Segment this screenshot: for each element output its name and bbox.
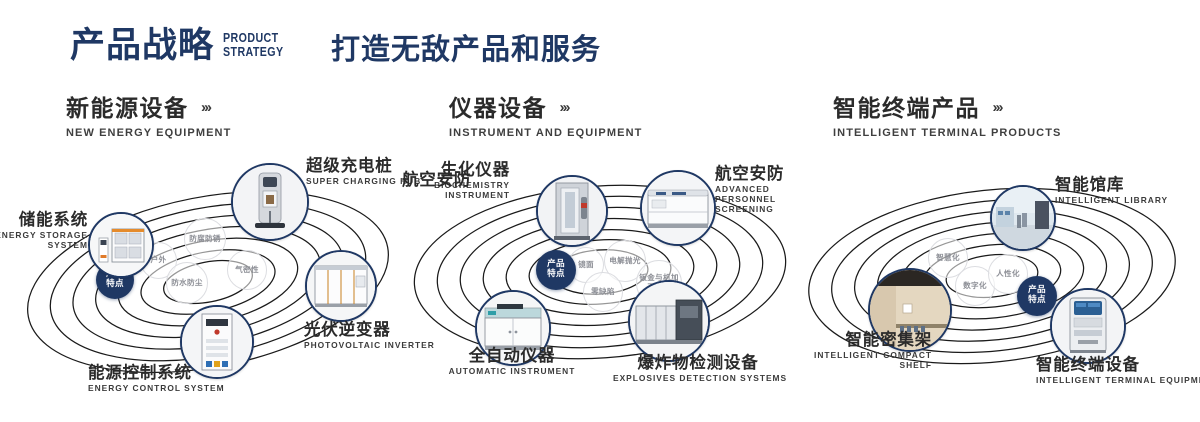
feature-bubble-zero-defect: 零缺陷 (583, 272, 623, 312)
feature-bubble-corrosion: 防腐防锈 (184, 218, 226, 260)
cluster-intelligent-terminal: 智慧化 数字化 人性化 产品 特点 (800, 150, 1200, 400)
advanced-personnel-screening-image (642, 172, 714, 244)
caption-explosives-detection-systems: 爆炸物检测设备 EXPLOSIVES DETECTION SYSTEMS (613, 353, 783, 383)
section-heading-intelligent-terminal: 智能终端产品 ››› INTELLIGENT TERMINAL PRODUCTS (833, 96, 1061, 140)
explosives-detection-image (630, 282, 708, 360)
page-subtitle: 打造无敌产品和服务 (331, 32, 601, 66)
page-title-en-line1: PRODUCT (223, 31, 284, 45)
chevrons-icon-new-energy: ››› (201, 99, 210, 116)
caption-aviation-security-left: 航空安防 (402, 170, 470, 189)
node-photovoltaic-inverter[interactable] (305, 250, 377, 322)
node-intelligent-library[interactable] (990, 185, 1056, 251)
caption-energy-storage-system: 储能系统 ENERGY STORAGE SYSTEM (0, 210, 88, 250)
intelligent-library-image (992, 187, 1054, 249)
section-title-en-intelligent-terminal: INTELLIGENT TERMINAL PRODUCTS (833, 127, 1061, 140)
page-title-en-line2: STRATEGY (223, 45, 284, 59)
intelligent-terminal-equipment-image (1052, 290, 1124, 362)
feature-bubble-waterproof: 防水防尘 (166, 262, 208, 304)
core-badge-intelligent-terminal: 产品 特点 (1017, 276, 1057, 316)
cluster-instrument: 镜面 电解抛光 零缺陷 钣金与机加工结合 产品 特点 (400, 150, 820, 400)
page-title-cn: 产品战略 (70, 27, 214, 66)
section-heading-new-energy: 新能源设备 ››› NEW ENERGY EQUIPMENT (66, 96, 231, 140)
node-biochemistry-instrument[interactable] (536, 175, 608, 247)
section-title-cn-new-energy: 新能源设备 (66, 96, 189, 122)
biochemistry-instrument-image (538, 177, 606, 245)
page-title: 产品战略 PRODUCT STRATEGY (70, 27, 297, 66)
node-intelligent-terminal-equipment[interactable] (1050, 288, 1126, 364)
caption-intelligent-terminal-equipment: 智能终端设备 INTELLIGENT TERMINAL EQUIPMENT (1036, 355, 1200, 385)
node-energy-storage-system[interactable] (88, 212, 154, 278)
super-charging-hub-image (233, 165, 307, 239)
cluster-new-energy: 防腐防锈 户外 防水防尘 气密性 产品 特点 (0, 150, 420, 400)
caption-energy-control-system: 能源控制系统 ENERGY CONTROL SYSTEM (88, 363, 225, 393)
caption-intelligent-compact-shelf: 智能密集架 INTELLIGENT COMPACT SHELF (810, 330, 932, 370)
caption-intelligent-library: 智能馆库 INTELLIGENT LIBRARY (1055, 175, 1168, 205)
node-advanced-personnel-screening[interactable] (640, 170, 716, 246)
section-heading-instrument: 仪器设备 ››› INSTRUMENT AND EQUIPMENT (449, 96, 642, 140)
node-super-charging-hub[interactable] (231, 163, 309, 241)
photovoltaic-inverter-image (307, 252, 375, 320)
section-title-en-new-energy: NEW ENERGY EQUIPMENT (66, 127, 231, 140)
section-title-en-instrument: INSTRUMENT AND EQUIPMENT (449, 127, 642, 140)
caption-automatic-instrument: 全自动仪器 AUTOMATIC INSTRUMENT (422, 346, 602, 376)
core-badge-instrument: 产品 特点 (536, 250, 576, 290)
node-explosives-detection-systems[interactable] (628, 280, 710, 362)
page-title-en: PRODUCT STRATEGY (223, 31, 284, 58)
chevrons-icon-instrument: ››› (559, 99, 568, 116)
feature-bubble-airtight: 气密性 (227, 250, 267, 290)
section-title-cn-intelligent-terminal: 智能终端产品 (833, 96, 980, 122)
section-title-cn-instrument: 仪器设备 (449, 96, 547, 122)
energy-storage-image (90, 214, 152, 276)
poster-canvas: 产品战略 PRODUCT STRATEGY 打造无敌产品和服务 新能源设备 ››… (0, 0, 1200, 422)
chevrons-icon-intelligent-terminal: ››› (992, 99, 1001, 116)
